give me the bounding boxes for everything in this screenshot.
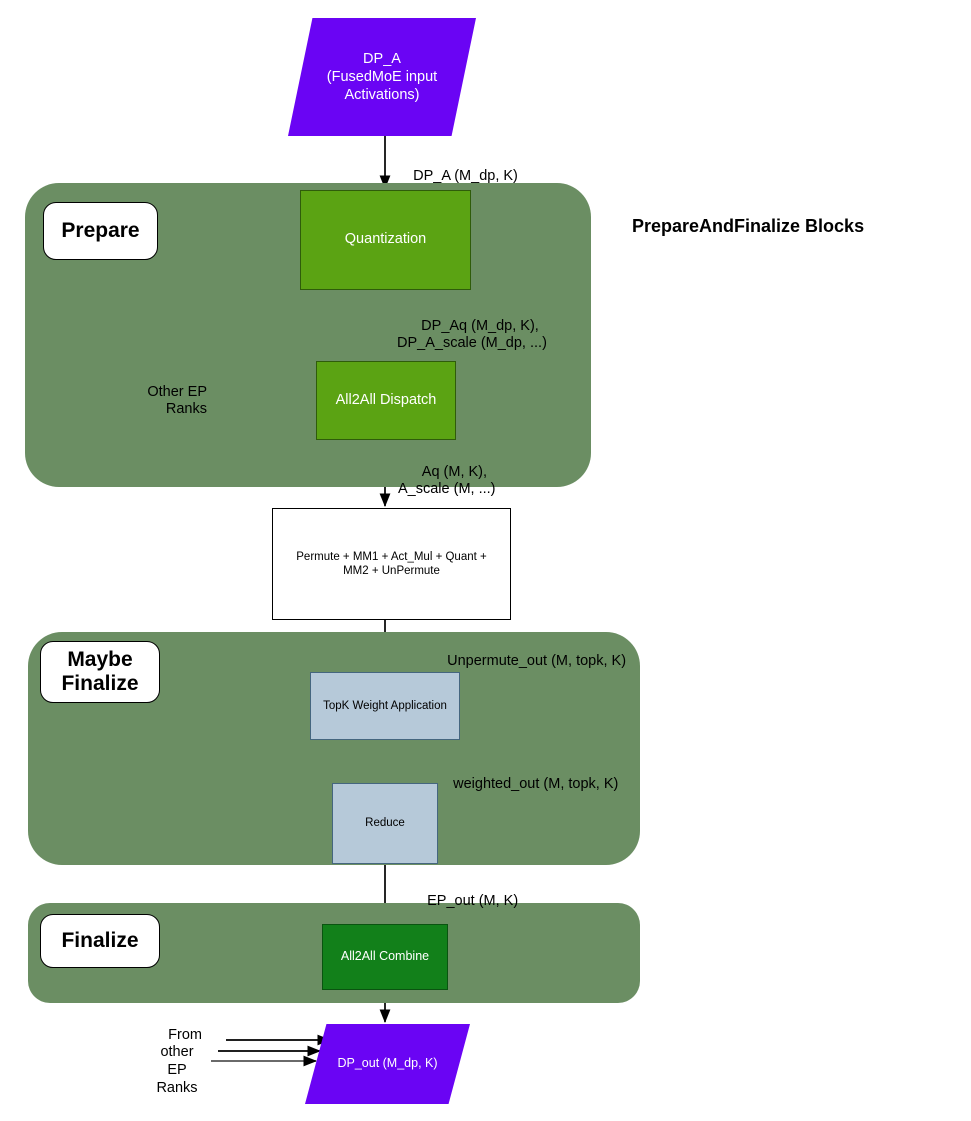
node-quantization[interactable]: Quantization (300, 190, 471, 290)
edge-label-weighted-out: weighted_out (M, topk, K) (437, 758, 618, 811)
edge-label-unpermute-out-text: Unpermute_out (M, topk, K) (447, 653, 626, 669)
node-reduce[interactable]: Reduce (332, 783, 438, 864)
edge-label-unpermute-out: Unpermute_out (M, topk, K) (431, 635, 626, 688)
group-label-finalize-text: Finalize (61, 929, 138, 953)
node-dp-out-label: DP_out (M_dp, K) (337, 1056, 437, 1072)
group-label-maybe-finalize-text: Maybe Finalize (61, 648, 138, 695)
edge-label-dp-aq-text: DP_Aq (M_dp, K), DP_A_scale (M_dp, ...) (397, 318, 547, 352)
node-dp-out[interactable]: DP_out (M_dp, K) (305, 1024, 470, 1104)
diagram-title-text: PrepareAndFinalize Blocks (632, 216, 864, 236)
group-label-maybe-finalize: Maybe Finalize (40, 641, 160, 703)
edge-label-aq: Aq (M, K), A_scale (M, ...) (398, 446, 496, 517)
edge-label-ep-out-text: EP_out (M, K) (427, 893, 518, 909)
annotation-other-ep-ranks: Other EP Ranks (113, 366, 207, 437)
annotation-from-other-ep-ranks-text: From other EP Ranks (156, 1027, 202, 1096)
node-expert-compute[interactable]: Permute + MM1 + Act_Mul + Quant + MM2 + … (272, 508, 511, 620)
node-all2all-dispatch-label: All2All Dispatch (336, 392, 437, 410)
diagram-canvas: Prepare Maybe Finalize Finalize DP_A (Fu… (0, 0, 971, 1121)
diagram-title: PrepareAndFinalize Blocks (632, 216, 864, 237)
node-topk-weight-application-label: TopK Weight Application (323, 699, 447, 713)
group-label-prepare-text: Prepare (61, 219, 139, 243)
node-dp-a-input-label: DP_A (FusedMoE input Activations) (327, 50, 437, 104)
edge-label-dp-a-text: DP_A (M_dp, K) (413, 168, 518, 184)
group-label-prepare: Prepare (43, 202, 158, 260)
node-quantization-label: Quantization (345, 231, 426, 249)
edge-label-weighted-out-text: weighted_out (M, topk, K) (453, 776, 618, 792)
annotation-from-other-ep-ranks: From other EP Ranks (146, 1009, 208, 1115)
edge-label-ep-out: EP_out (M, K) (411, 875, 518, 928)
node-reduce-label: Reduce (365, 816, 405, 830)
edge-label-dp-a: DP_A (M_dp, K) (397, 150, 518, 203)
node-all2all-combine[interactable]: All2All Combine (322, 924, 448, 990)
node-all2all-dispatch[interactable]: All2All Dispatch (316, 361, 456, 440)
edge-label-aq-text: Aq (M, K), A_scale (M, ...) (398, 464, 496, 498)
node-expert-compute-label: Permute + MM1 + Act_Mul + Quant + MM2 + … (296, 550, 486, 578)
node-all2all-combine-label: All2All Combine (341, 949, 429, 964)
group-label-finalize: Finalize (40, 914, 160, 968)
edge-label-dp-aq: DP_Aq (M_dp, K), DP_A_scale (M_dp, ...) (397, 300, 547, 371)
node-dp-a-input[interactable]: DP_A (FusedMoE input Activations) (288, 18, 476, 136)
annotation-other-ep-ranks-text: Other EP Ranks (147, 384, 207, 418)
